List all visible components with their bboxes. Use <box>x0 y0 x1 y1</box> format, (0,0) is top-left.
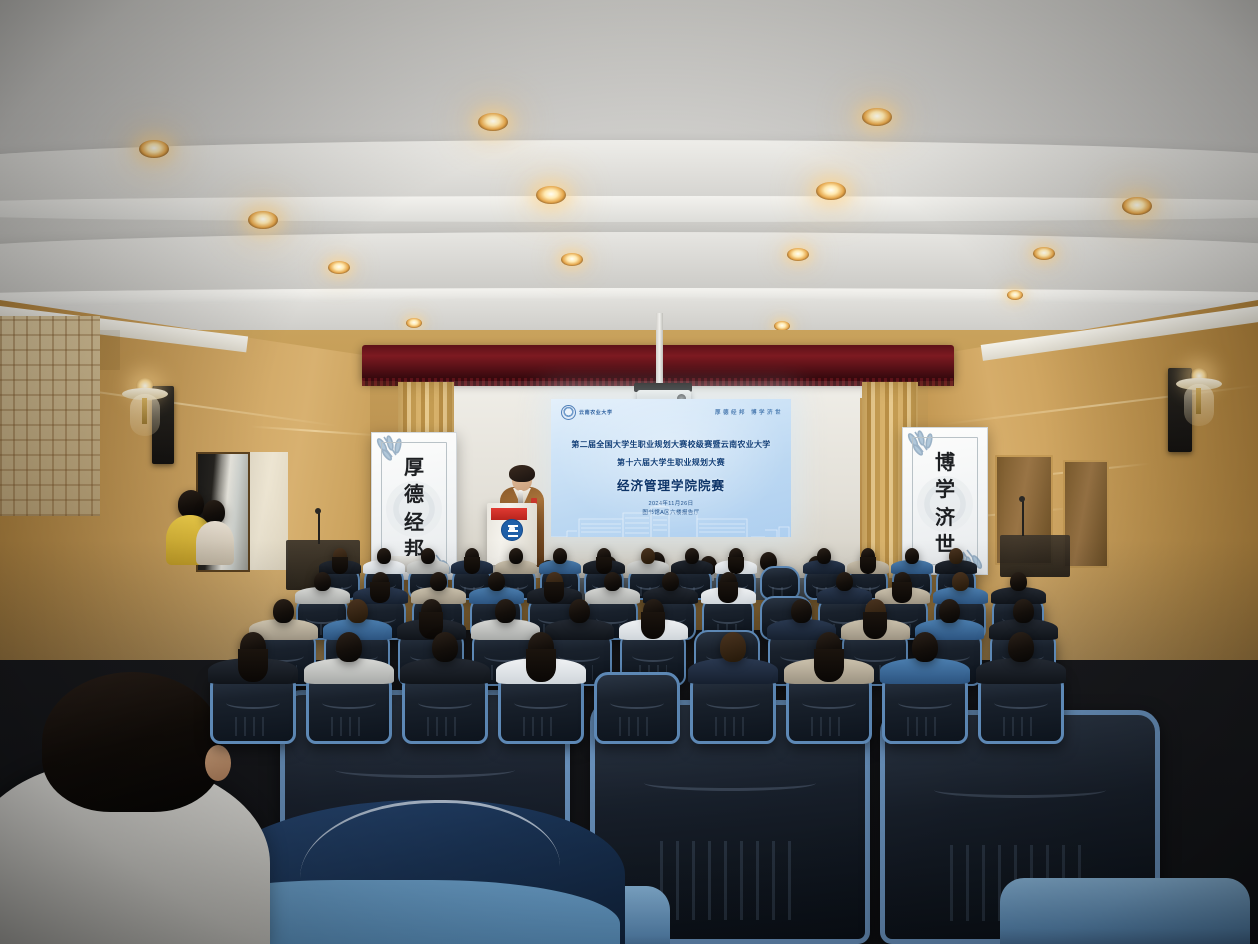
podium-emblem-icon <box>501 519 523 541</box>
audience-head <box>949 548 963 564</box>
audience-head <box>1010 572 1027 591</box>
audience-head <box>905 548 919 564</box>
audience-head <box>336 632 362 662</box>
audience-head <box>720 572 737 591</box>
audience-head <box>836 572 853 591</box>
left-lattice-screen <box>0 316 100 516</box>
projector-mount-pole <box>656 313 663 393</box>
sconce-stem <box>1196 388 1201 414</box>
banner-char: 博 <box>935 452 955 472</box>
auditorium-photo: 云南农业大学 厚德经邦 博学济世 第二届全国大学生职业规划大赛校级赛暨云南农业大… <box>0 0 1258 944</box>
audience-head <box>861 548 875 564</box>
audience-head <box>1013 599 1034 623</box>
audience-head <box>553 548 567 564</box>
audience-head <box>421 548 435 564</box>
slide-title-line-2: 第十六届大学生职业规划大赛 <box>551 457 791 468</box>
audience-head <box>1008 632 1034 662</box>
audience-head <box>720 632 746 662</box>
audience-head <box>894 572 911 591</box>
audience-head <box>528 632 554 662</box>
audience-head <box>641 548 655 564</box>
projection-slide: 云南农业大学 厚德经邦 博学济世 第二届全国大学生职业规划大赛校级赛暨云南农业大… <box>551 399 791 537</box>
ceiling-downlight <box>406 318 422 328</box>
seat-back-curve <box>644 775 817 791</box>
audience-head <box>569 599 590 623</box>
slide-organization: 云南农业大学 <box>579 409 613 416</box>
audience-head <box>465 548 479 564</box>
audience-head <box>430 572 447 591</box>
audience-head <box>432 632 458 662</box>
banner-char: 学 <box>935 479 955 499</box>
audience-head <box>729 548 743 564</box>
audience-head <box>865 599 886 623</box>
banner-char: 济 <box>935 507 955 527</box>
ceiling-downlight <box>248 211 278 229</box>
ceiling-downlight <box>1007 290 1023 300</box>
audience-head <box>643 599 664 623</box>
audience-head <box>421 599 442 623</box>
audience-head <box>314 572 331 591</box>
audience-head <box>939 599 960 623</box>
seat-back-curve <box>335 762 514 778</box>
slide-university-logo: 云南农业大学 <box>561 405 613 420</box>
ceiling-downlight <box>816 182 846 200</box>
wall-sconce-left <box>122 378 168 438</box>
banner-char: 经 <box>404 512 424 532</box>
seat[interactable] <box>760 566 800 600</box>
audience-head <box>817 548 831 564</box>
ceiling-downlight <box>862 108 892 126</box>
ceiling-downlight <box>1122 197 1152 215</box>
audience-head <box>495 599 516 623</box>
seat-back-slats <box>660 841 800 921</box>
audience-head <box>509 548 523 564</box>
standing-person-head <box>178 490 204 518</box>
banner-char: 德 <box>404 484 424 504</box>
ceiling <box>0 0 1258 360</box>
audience-head <box>685 548 699 564</box>
audience-head <box>273 599 294 623</box>
audience-head <box>347 599 368 623</box>
ceiling-downlight <box>561 253 583 266</box>
ceiling-downlight <box>536 186 566 204</box>
audience-head <box>546 572 563 591</box>
audience-head <box>377 548 391 564</box>
ceiling-downlight <box>1033 247 1055 260</box>
audience-head <box>597 548 611 564</box>
audience-head <box>333 548 347 564</box>
sconce-stem <box>142 398 147 424</box>
university-emblem-icon <box>561 405 576 420</box>
audience-head <box>952 572 969 591</box>
ceiling-downlight <box>139 140 169 158</box>
audience-head <box>240 632 266 662</box>
ceiling-downlight <box>787 248 809 261</box>
microphone-head-icon <box>315 508 321 514</box>
audience-head <box>604 572 621 591</box>
audience-head <box>662 572 679 591</box>
campus-building-illustration <box>551 497 791 537</box>
presenter-hair <box>509 465 535 482</box>
ceiling-downlight <box>478 113 508 131</box>
audience-head <box>791 599 812 623</box>
foreground-person-head <box>42 672 222 812</box>
foreground-person-ear <box>205 745 231 781</box>
slide-slogan: 厚德经邦 博学济世 <box>715 408 783 416</box>
slide-title-line-1: 第二届全国大学生职业规划大赛校级赛暨云南农业大学 <box>551 439 791 450</box>
audience-head <box>912 632 938 662</box>
wall-sconce-right <box>1176 368 1222 428</box>
audience-head <box>816 632 842 662</box>
seat-back-curve <box>934 782 1107 798</box>
ceiling-downlight <box>328 261 350 274</box>
audience-head <box>488 572 505 591</box>
av-microphone-head-icon <box>1019 496 1025 502</box>
slide-title-line-3: 经济管理学院院赛 <box>551 475 791 494</box>
seat[interactable] <box>594 672 680 744</box>
banner-char: 厚 <box>404 457 424 477</box>
av-microphone-stand <box>1022 500 1024 536</box>
audience-head <box>372 572 389 591</box>
seat-cushion-foreground-2[interactable] <box>1000 878 1250 944</box>
ceiling-soffit-1 <box>0 196 1258 222</box>
